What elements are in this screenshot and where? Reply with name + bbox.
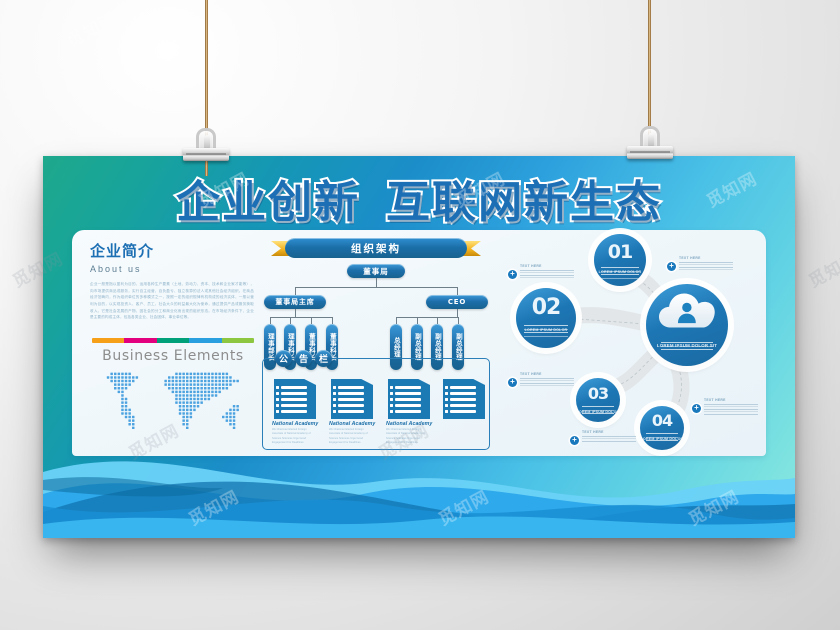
list-item[interactable]: National Academy We Chairman Elected For… xyxy=(386,379,432,446)
caption-5: TEXT HERE xyxy=(704,398,758,415)
bulletin-char-3: 栏 xyxy=(315,350,332,367)
org-connector xyxy=(458,317,459,324)
org-connector xyxy=(417,317,418,324)
poster-banner: 企业创新互联网新生态 企业简介 About us 企业一般是指以盈利为目的，运用… xyxy=(43,156,795,538)
title-part-2: 互联网新生态 xyxy=(386,177,662,228)
org-connector xyxy=(270,317,271,324)
list-item[interactable]: National Academy We Chairman Elected For… xyxy=(329,379,375,446)
org-connector xyxy=(295,287,296,295)
bubble-lines xyxy=(661,342,714,353)
infographic-section: 01 LOREM IPSUM DOLOR 02 LOREM IPSUM DOLO… xyxy=(508,232,766,454)
org-connector xyxy=(295,309,296,317)
list-item[interactable]: National Academy We Chairman Elected For… xyxy=(272,379,318,446)
about-body-text: 企业一般是指以盈利为目的，运用各种生产要素（土地、劳动力、资本、技术和企业家才能… xyxy=(90,281,254,321)
bulletin-char-1: 公 xyxy=(275,350,292,367)
bulletin-board-title: 公 告 栏 xyxy=(275,350,332,367)
org-node-branch-1[interactable]: 董事局主席 xyxy=(264,295,326,309)
bulletin-char-2: 告 xyxy=(295,350,312,367)
org-connector xyxy=(311,317,312,324)
caption-4: TEXT HERE xyxy=(582,430,636,442)
bulletin-doc-list: National Academy We Chairman Elected For… xyxy=(272,379,480,446)
org-connector xyxy=(290,317,291,324)
plus-marker-4[interactable]: + xyxy=(570,436,579,445)
bubble-lines xyxy=(582,406,614,417)
plus-marker-5[interactable]: + xyxy=(692,404,701,413)
bubble-number: 02 xyxy=(516,295,576,320)
clip-handle-icon xyxy=(640,126,660,148)
doc-subtext: We Chairman Elected Foreign Associate of… xyxy=(329,428,375,446)
page-title: 企业创新互联网新生态 xyxy=(43,166,795,230)
org-node-branch-2[interactable]: CEO xyxy=(426,295,488,309)
caption-1: TEXT HERE xyxy=(520,264,574,278)
document-icon xyxy=(443,379,485,419)
about-heading-cn: 企业简介 xyxy=(90,240,254,261)
org-chart-title: 组织架构 xyxy=(285,238,467,258)
org-connector xyxy=(457,309,458,317)
org-connector xyxy=(396,317,397,324)
document-icon xyxy=(388,379,430,419)
org-connector xyxy=(332,317,333,324)
bubble-03[interactable]: 03 LOREM IPSUM DOLOR xyxy=(576,378,620,422)
caption-3: TEXT HERE xyxy=(520,372,574,386)
doc-subtext: We Chairman Elected Foreign Associate of… xyxy=(272,428,318,446)
bubble-lines xyxy=(646,433,678,444)
org-chart-ribbon: 组织架构 xyxy=(271,238,481,258)
doc-subtext: We Chairman Elected Foreign Associate of… xyxy=(386,428,432,446)
org-node-top[interactable]: 董事局 xyxy=(347,264,405,278)
org-connector xyxy=(376,278,377,287)
content-card: 企业简介 About us 企业一般是指以盈利为目的，运用各种生产要素（土地、劳… xyxy=(72,230,766,456)
color-bar xyxy=(92,338,254,343)
world-map-icon xyxy=(92,367,254,429)
bubble-center[interactable]: LOREM IPSUM DOLOR SIT xyxy=(646,284,728,366)
document-icon xyxy=(274,379,316,419)
business-elements-block: Business Elements xyxy=(92,338,254,429)
cloud-user-icon xyxy=(659,293,715,329)
bubble-lines xyxy=(524,325,567,339)
plus-marker-2[interactable]: + xyxy=(667,262,676,271)
about-section: 企业简介 About us 企业一般是指以盈利为目的，运用各种生产要素（土地、劳… xyxy=(90,240,254,321)
doc-caption: National Academy xyxy=(272,421,318,427)
document-icon xyxy=(331,379,373,419)
bubble-lines xyxy=(601,267,638,281)
doc-caption: National Academy xyxy=(386,421,432,427)
watermark: 觅知网 xyxy=(61,5,120,52)
bubble-04[interactable]: 04 LOREM IPSUM DOLOR xyxy=(640,406,684,450)
watermark: 觅知网 xyxy=(803,245,840,292)
org-connector xyxy=(457,287,458,295)
list-item[interactable] xyxy=(443,379,485,446)
clip-handle-icon xyxy=(196,128,216,150)
org-connector xyxy=(295,287,457,288)
org-connector xyxy=(270,317,332,318)
about-heading-en: About us xyxy=(90,264,254,274)
doc-caption: National Academy xyxy=(329,421,375,427)
org-connector xyxy=(437,317,438,324)
bubble-02[interactable]: 02 LOREM IPSUM DOLOR xyxy=(516,288,576,348)
bubble-01[interactable]: 01 LOREM IPSUM DOLOR xyxy=(594,234,646,286)
business-elements-title: Business Elements xyxy=(92,348,254,364)
plus-marker-3[interactable]: + xyxy=(508,378,517,387)
title-part-1: 企业创新 xyxy=(176,177,360,228)
clip-bar-icon xyxy=(627,146,673,159)
org-connector xyxy=(396,317,458,318)
bulletin-board: 公 告 栏 National Academy We Chairman Elect… xyxy=(262,358,490,450)
clip-bar-icon xyxy=(183,148,229,161)
plus-marker-1[interactable]: + xyxy=(508,270,517,279)
hanging-rope-right xyxy=(648,0,651,140)
caption-2: TEXT HERE xyxy=(679,256,733,270)
